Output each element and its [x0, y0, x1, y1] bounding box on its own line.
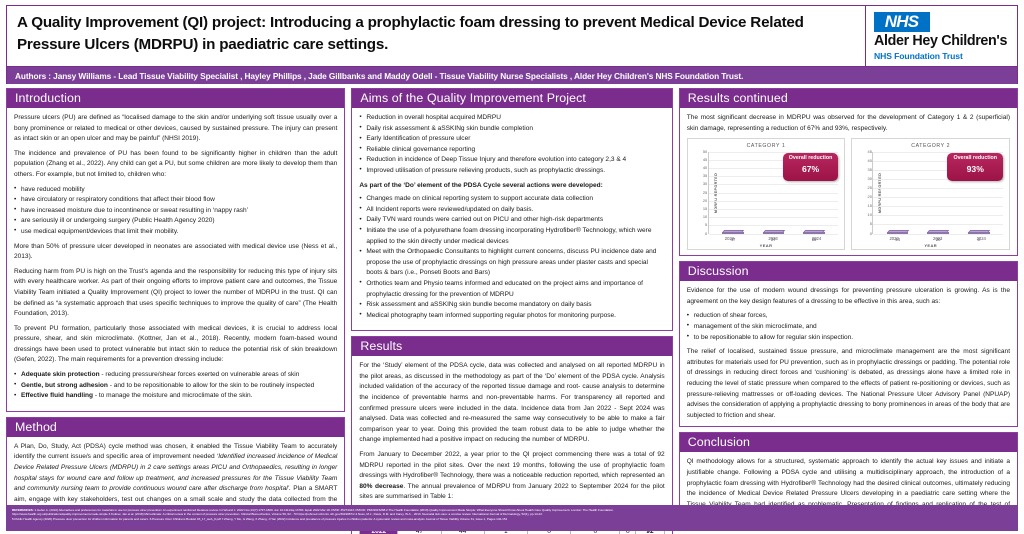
- discussion-paragraph-1: Evidence for the use of modern wound dre…: [687, 286, 1010, 307]
- conclusion-heading: Conclusion: [680, 433, 1017, 452]
- ytick: 20: [868, 194, 872, 200]
- discussion-body: Evidence for the use of modern wound dre…: [680, 281, 1017, 426]
- bar-wrap: 27: [759, 232, 788, 234]
- results-text-a: From January to December 2022, a year pr…: [359, 451, 664, 479]
- poster-header: A Quality Improvement (QI) project: Intr…: [6, 5, 1018, 67]
- column-middle: Aims of the Quality Improvement Project …: [351, 88, 672, 500]
- chart-category-1: CATEGORY 1 Overall reduction 67% MDRPU R…: [687, 138, 846, 250]
- bar-2023: 27: [763, 232, 785, 234]
- results-continued-heading: Results continued: [680, 89, 1017, 108]
- aims-heading: Aims of the Quality Improvement Project: [352, 89, 671, 108]
- page-title: A Quality Improvement (QI) project: Intr…: [7, 6, 865, 66]
- intro-paragraph-3: More than 50% of pressure ulcer develope…: [14, 242, 337, 263]
- poster-root: A Quality Improvement (QI) project: Intr…: [0, 0, 1024, 534]
- ytick: 0: [705, 230, 707, 236]
- chart-2-title: CATEGORY 2: [856, 142, 1005, 150]
- list-item: have increased moisture due to incontine…: [14, 206, 337, 217]
- results-continued-body: The most significant decrease in MDRPU w…: [680, 108, 1017, 255]
- trust-subtitle: NHS Foundation Trust: [874, 51, 1011, 61]
- ytick: 45: [703, 157, 707, 163]
- bar-wrap: 16: [799, 232, 828, 234]
- panel-introduction: Introduction Pressure ulcers (PU) are de…: [6, 88, 345, 412]
- discussion-paragraph-2: The relief of localised, sustained tissu…: [687, 347, 1010, 421]
- list-item-term: Effective fluid handling: [21, 392, 93, 399]
- list-item: reduction of shear forces,: [687, 311, 1010, 322]
- bar-value: 3: [969, 237, 989, 244]
- ytick: 50: [703, 148, 707, 154]
- ytick: 30: [868, 176, 872, 182]
- badge-label: Overall reduction: [953, 156, 997, 162]
- chart-category-2: CATEGORY 2 Overall reduction 93% MDRPU R…: [851, 138, 1010, 250]
- list-item: use medical equipment/devices that limit…: [14, 227, 337, 238]
- ytick: 15: [703, 206, 707, 212]
- results-paragraph-1: For the ‘Study’ element of the PDSA cycl…: [359, 361, 664, 446]
- ytick: 5: [870, 221, 872, 227]
- bar-wrap: 20: [924, 232, 953, 234]
- chart-1-xlabel: YEAR: [692, 243, 841, 249]
- intro-paragraph-1: Pressure ulcers (PU) are defined as “loc…: [14, 113, 337, 145]
- ytick: 15: [868, 203, 872, 209]
- authors-bar: Authors : Jansy Williams - Lead Tissue V…: [6, 67, 1018, 84]
- bar-value: 47: [723, 237, 743, 244]
- list-item: Reliable clinical governance reporting: [359, 145, 664, 156]
- bar-wrap: 47: [718, 232, 747, 234]
- badge-label: Overall reduction: [789, 156, 833, 162]
- badge-value: 93%: [953, 163, 997, 177]
- ytick: 25: [868, 185, 872, 191]
- intro-paragraph-2: The incidence and prevalence of PU has b…: [14, 149, 337, 181]
- bar-2022: 44: [887, 232, 909, 234]
- list-item-term: Gentle, but strong adhesion: [21, 382, 108, 389]
- list-item: have reduced mobility: [14, 185, 337, 196]
- ytick: 30: [703, 181, 707, 187]
- results-paragraph-2: From January to December 2022, a year pr…: [359, 450, 664, 503]
- results-heading: Results: [352, 337, 671, 356]
- list-item-term: Adequate skin protection: [21, 371, 100, 378]
- intro-paragraph-4: Reducing harm from PU is high on the Tru…: [14, 267, 337, 320]
- panel-discussion: Discussion Evidence for the use of moder…: [679, 261, 1018, 427]
- chart-2-reduction-badge: Overall reduction 93%: [947, 153, 1003, 181]
- discussion-bullet-list: reduction of shear forces, management of…: [687, 311, 1010, 343]
- intro-paragraph-5: To prevent PU formation, particularly th…: [14, 324, 337, 366]
- list-item: Reduction in incidence of Deep Tissue In…: [359, 155, 664, 166]
- nhs-logo-icon: NHS: [874, 12, 930, 33]
- list-item: All Incident reports were reviewed/updat…: [359, 205, 664, 216]
- chart-2-xlabel: YEAR: [856, 243, 1005, 249]
- panel-aims: Aims of the Quality Improvement Project …: [351, 88, 672, 331]
- chart-1-title: CATEGORY 1: [692, 142, 841, 150]
- intro-bullet-list-1: have reduced mobility have circulatory o…: [14, 185, 337, 238]
- chart-1-reduction-badge: Overall reduction 67%: [783, 153, 839, 181]
- intro-bullet-list-2: Adequate skin protection - reducing pres…: [14, 370, 337, 402]
- list-item: Daily TVN ward rounds were carried out o…: [359, 215, 664, 226]
- charts-row: CATEGORY 1 Overall reduction 67% MDRPU R…: [687, 138, 1010, 250]
- results-continued-paragraph: The most significant decrease in MDRPU w…: [687, 113, 1010, 134]
- do-bullet-list: Changes made on clinical reporting syste…: [359, 194, 664, 321]
- list-item-desc: - to manage the moisture and microclimat…: [93, 392, 252, 399]
- list-item: are seriously ill or undergoing surgery …: [14, 216, 337, 227]
- references-footer: REFERENCES: 1.Gefen A. (2022) Alternativ…: [6, 505, 1018, 531]
- aims-bullet-list: Reduction in overall hospital acquired M…: [359, 113, 664, 177]
- list-item: Initiate the use of a polyurethane foam …: [359, 226, 664, 247]
- list-item: to be repositionable to allow for regula…: [687, 333, 1010, 344]
- list-item-desc: - reducing pressure/shear forces exerted…: [100, 371, 300, 378]
- method-heading: Method: [7, 418, 344, 437]
- ytick: 20: [703, 198, 707, 204]
- trust-name: Alder Hey Children's: [874, 34, 1011, 49]
- ytick: 40: [868, 158, 872, 164]
- list-item: management of the skin microclimate, and: [687, 322, 1010, 333]
- column-right: Results continued The most significant d…: [679, 88, 1018, 500]
- introduction-body: Pressure ulcers (PU) are defined as “loc…: [7, 108, 344, 411]
- list-item-desc: - and to be repositionable to allow for …: [108, 382, 314, 389]
- results-decrease-value: 80% decrease: [359, 483, 403, 490]
- bar-wrap: 3: [964, 232, 993, 234]
- list-item: Changes made on clinical reporting syste…: [359, 194, 664, 205]
- list-item: Gentle, but strong adhesion - and to be …: [14, 381, 337, 392]
- list-item: Orthotics team and Physio teams informed…: [359, 279, 664, 300]
- ytick: 35: [703, 173, 707, 179]
- aims-body: Reduction in overall hospital acquired M…: [352, 108, 671, 330]
- list-item: Reduction in overall hospital acquired M…: [359, 113, 664, 124]
- references-text-1: 1.Gefen A. (2022) Alternatives and prefe…: [34, 508, 613, 512]
- nhs-trust-logo: NHS Alder Hey Children's NHS Foundation …: [865, 6, 1017, 66]
- bar-value: 44: [888, 237, 908, 244]
- list-item: Medical photography team informed suppor…: [359, 311, 664, 322]
- ytick: 0: [870, 230, 872, 236]
- ytick: 40: [703, 165, 707, 171]
- ytick: 35: [868, 167, 872, 173]
- results-text-b: . The annual prevalence of MDRPU from Ja…: [359, 483, 664, 501]
- list-item: Adequate skin protection - reducing pres…: [14, 370, 337, 381]
- bar-value: 16: [804, 237, 824, 244]
- bar-wrap: 44: [883, 232, 912, 234]
- list-item: Daily risk assessment & aSSKINg skin bun…: [359, 124, 664, 135]
- bar-value: 20: [928, 237, 948, 244]
- bar-2022: 47: [722, 232, 744, 234]
- bar-2024: 16: [803, 232, 825, 234]
- column-left: Introduction Pressure ulcers (PU) are de…: [6, 88, 345, 500]
- list-item: have circulatory or respiratory conditio…: [14, 195, 337, 206]
- panel-results-continued: Results continued The most significant d…: [679, 88, 1018, 256]
- poster-columns: Introduction Pressure ulcers (PU) are de…: [6, 88, 1018, 500]
- ytick: 5: [705, 222, 707, 228]
- list-item: Early Identification of pressure ulcer: [359, 134, 664, 145]
- list-item: Effective fluid handling - to manage the…: [14, 391, 337, 402]
- ytick: 25: [703, 189, 707, 195]
- bar-value: 27: [764, 237, 784, 244]
- ytick: 10: [868, 212, 872, 218]
- ytick: 45: [868, 148, 872, 154]
- discussion-heading: Discussion: [680, 262, 1017, 281]
- list-item: Meet with the Orthopaedic Consultants to…: [359, 247, 664, 279]
- bar-2024: 3: [968, 232, 990, 234]
- ytick: 10: [703, 214, 707, 220]
- bar-2023: 20: [927, 232, 949, 234]
- references-line-3: 5.Public Health Agency (2020) Pressure u…: [12, 517, 1013, 521]
- introduction-heading: Introduction: [7, 89, 344, 108]
- badge-value: 67%: [789, 163, 833, 177]
- list-item: Risk assessment and aSSKINg skin bundle …: [359, 300, 664, 311]
- do-element-heading: As part of the ‘Do’ element of the PDSA …: [359, 181, 664, 192]
- references-label: REFERENCES:: [12, 508, 34, 512]
- list-item: Improved utilisation of pressure relievi…: [359, 166, 664, 177]
